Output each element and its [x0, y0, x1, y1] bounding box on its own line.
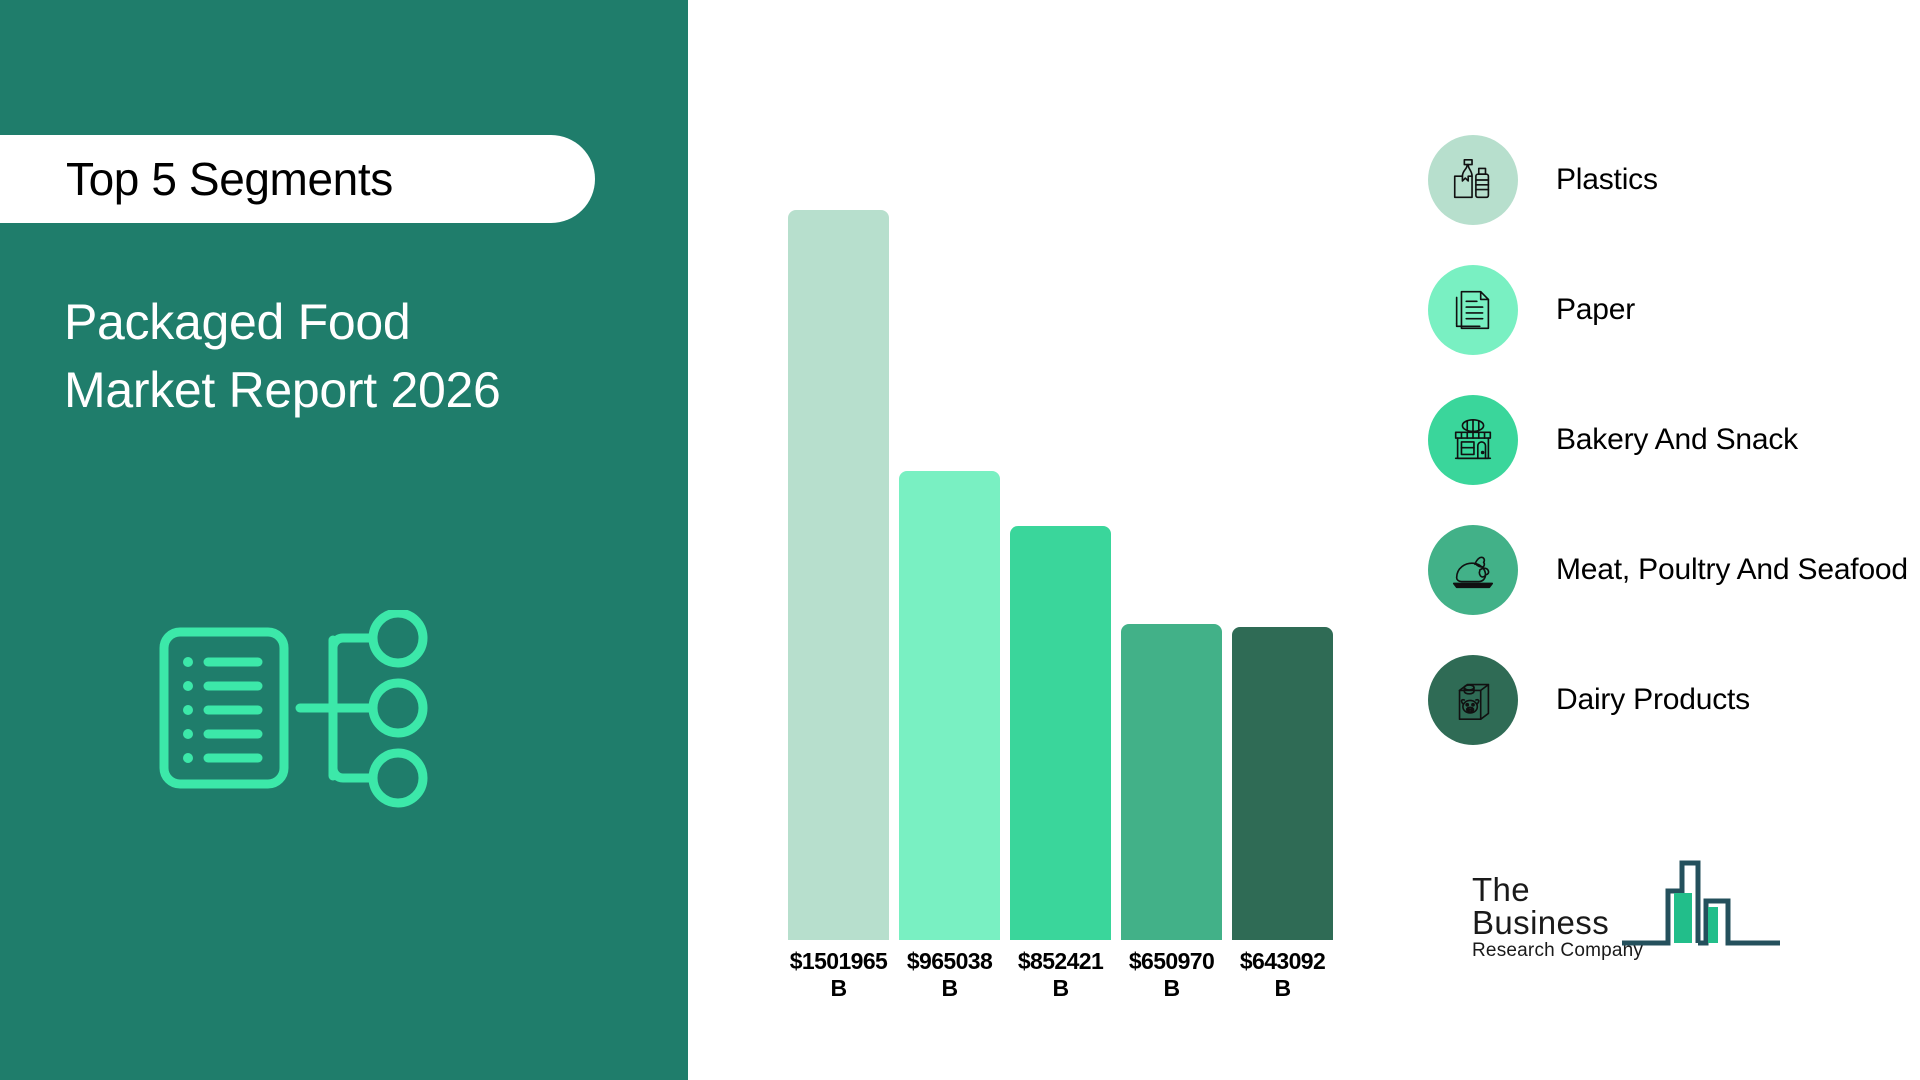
legend-label-3: Bakery And Snack — [1556, 423, 1798, 457]
bar-value-label-1: $1501965 B — [788, 948, 889, 1002]
badge-pill: Top 5 Segments — [0, 135, 595, 223]
paper-documents-icon — [1428, 265, 1518, 355]
plastic-bag-bottle-icon — [1428, 135, 1518, 225]
legend-item-2[interactable]: Paper — [1428, 265, 1635, 355]
legend-label-2: Paper — [1556, 293, 1635, 327]
bar-3 — [1010, 526, 1111, 940]
bar-chart: $1501965 B$965038 B$852421 B$650970 B$64… — [788, 0, 1348, 940]
bar-2 — [899, 471, 1000, 940]
legend-item-1[interactable]: Plastics — [1428, 135, 1658, 225]
bakery-storefront-icon — [1428, 395, 1518, 485]
page-title-line-1: Packaged Food — [64, 288, 644, 356]
legend-label-1: Plastics — [1556, 163, 1658, 197]
bar-1 — [788, 210, 889, 940]
bar-value-label-4: $650970 B — [1121, 948, 1222, 1002]
bar-value-label-5: $643092 B — [1232, 948, 1333, 1002]
infographic-canvas: Top 5 Segments Packaged Food Market Repo… — [0, 0, 1920, 1080]
company-logo: The Business Research Company — [1472, 855, 1792, 950]
bar-4 — [1121, 624, 1222, 940]
legend-label-4: Meat, Poultry And Seafood — [1556, 553, 1908, 587]
legend-item-3[interactable]: Bakery And Snack — [1428, 395, 1798, 485]
bar-chart-logo-mark — [1620, 855, 1795, 950]
badge-label: Top 5 Segments — [66, 152, 393, 206]
page-title-line-2: Market Report 2026 — [64, 356, 644, 424]
document-list-tree-icon — [150, 610, 480, 895]
legend-item-4[interactable]: Meat, Poultry And Seafood — [1428, 525, 1908, 615]
bar-5 — [1232, 627, 1333, 940]
legend-label-5: Dairy Products — [1556, 683, 1750, 717]
left-panel: Top 5 Segments Packaged Food Market Repo… — [0, 0, 688, 1080]
milk-carton-cow-icon — [1428, 655, 1518, 745]
legend-item-5[interactable]: Dairy Products — [1428, 655, 1750, 745]
bar-value-label-3: $852421 B — [1010, 948, 1111, 1002]
roast-chicken-icon — [1428, 525, 1518, 615]
bar-value-label-2: $965038 B — [899, 948, 1000, 1002]
page-title: Packaged Food Market Report 2026 — [64, 288, 644, 424]
